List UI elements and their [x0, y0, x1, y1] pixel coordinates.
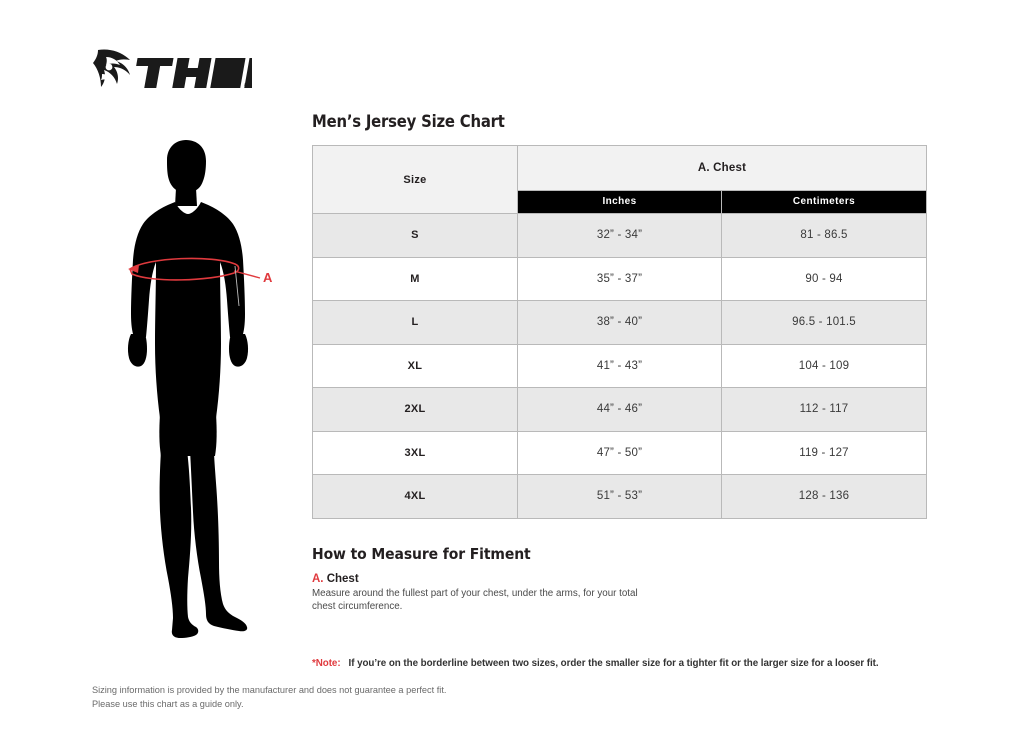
- note-label: *Note:: [312, 658, 341, 669]
- table-row: S 32” - 34” 81 - 86.5: [313, 214, 927, 258]
- size-chart-page: ®: [0, 0, 1024, 751]
- size-chart-table: Size A. Chest Inches Centimeters S 32” -…: [312, 145, 927, 519]
- body-silhouette-figure: A: [98, 138, 298, 650]
- cell-inches: 47” - 50”: [518, 431, 722, 475]
- cell-size: 3XL: [313, 431, 518, 475]
- cell-inches: 32” - 34”: [518, 214, 722, 258]
- cell-size: 4XL: [313, 475, 518, 519]
- table-body: S 32” - 34” 81 - 86.5 M 35” - 37” 90 - 9…: [313, 214, 927, 519]
- table-row: 3XL 47” - 50” 119 - 127: [313, 431, 927, 475]
- measure-item-heading: A. Chest: [312, 573, 932, 585]
- page-title: Men’s Jersey Size Chart: [312, 112, 932, 131]
- disclaimer-line-1: Sizing information is provided by the ma…: [92, 684, 446, 698]
- cell-size: 2XL: [313, 388, 518, 432]
- table-row: L 38” - 40” 96.5 - 101.5: [313, 301, 927, 345]
- cell-size: XL: [313, 344, 518, 388]
- table-head: Size A. Chest Inches Centimeters: [313, 146, 927, 214]
- column-header-centimeters: Centimeters: [722, 190, 927, 213]
- measure-item-letter: A.: [312, 573, 324, 585]
- cell-size: L: [313, 301, 518, 345]
- table-row: XL 41” - 43” 104 - 109: [313, 344, 927, 388]
- male-body-silhouette-icon: A: [98, 138, 298, 650]
- table-row: 2XL 44” - 46” 112 - 117: [313, 388, 927, 432]
- cell-inches: 51” - 53”: [518, 475, 722, 519]
- table-row: 4XL 51” - 53” 128 - 136: [313, 475, 927, 519]
- disclaimer: Sizing information is provided by the ma…: [92, 684, 446, 712]
- thor-logo: ®: [92, 44, 252, 96]
- disclaimer-line-2: Please use this chart as a guide only.: [92, 698, 446, 712]
- cell-centimeters: 104 - 109: [722, 344, 927, 388]
- how-to-measure-title: How to Measure for Fitment: [312, 545, 932, 563]
- cell-inches: 44” - 46”: [518, 388, 722, 432]
- measure-item-name: Chest: [324, 573, 359, 585]
- measure-item-description: Measure around the fullest part of your …: [312, 587, 642, 615]
- chart-content: Men’s Jersey Size Chart Size A. Chest In…: [312, 112, 932, 669]
- cell-centimeters: 112 - 117: [722, 388, 927, 432]
- note: *Note:If you’re on the borderline betwee…: [312, 658, 932, 669]
- cell-centimeters: 119 - 127: [722, 431, 927, 475]
- cell-size: S: [313, 214, 518, 258]
- column-header-chest-group: A. Chest: [518, 146, 927, 191]
- cell-centimeters: 96.5 - 101.5: [722, 301, 927, 345]
- note-text: If you’re on the borderline between two …: [349, 658, 879, 669]
- table-header-row-group: Size A. Chest: [313, 146, 927, 191]
- trademark-symbol: ®: [244, 82, 248, 89]
- cell-size: M: [313, 257, 518, 301]
- cell-inches: 35” - 37”: [518, 257, 722, 301]
- cell-centimeters: 81 - 86.5: [722, 214, 927, 258]
- cell-inches: 38” - 40”: [518, 301, 722, 345]
- measure-label-a: A: [263, 270, 273, 285]
- cell-centimeters: 128 - 136: [722, 475, 927, 519]
- cell-inches: 41” - 43”: [518, 344, 722, 388]
- measure-item-chest: A. Chest Measure around the fullest part…: [312, 573, 932, 615]
- column-header-size: Size: [313, 146, 518, 214]
- column-header-inches: Inches: [518, 190, 722, 213]
- cell-centimeters: 90 - 94: [722, 257, 927, 301]
- thor-helmet-icon: ®: [92, 44, 252, 96]
- table-row: M 35” - 37” 90 - 94: [313, 257, 927, 301]
